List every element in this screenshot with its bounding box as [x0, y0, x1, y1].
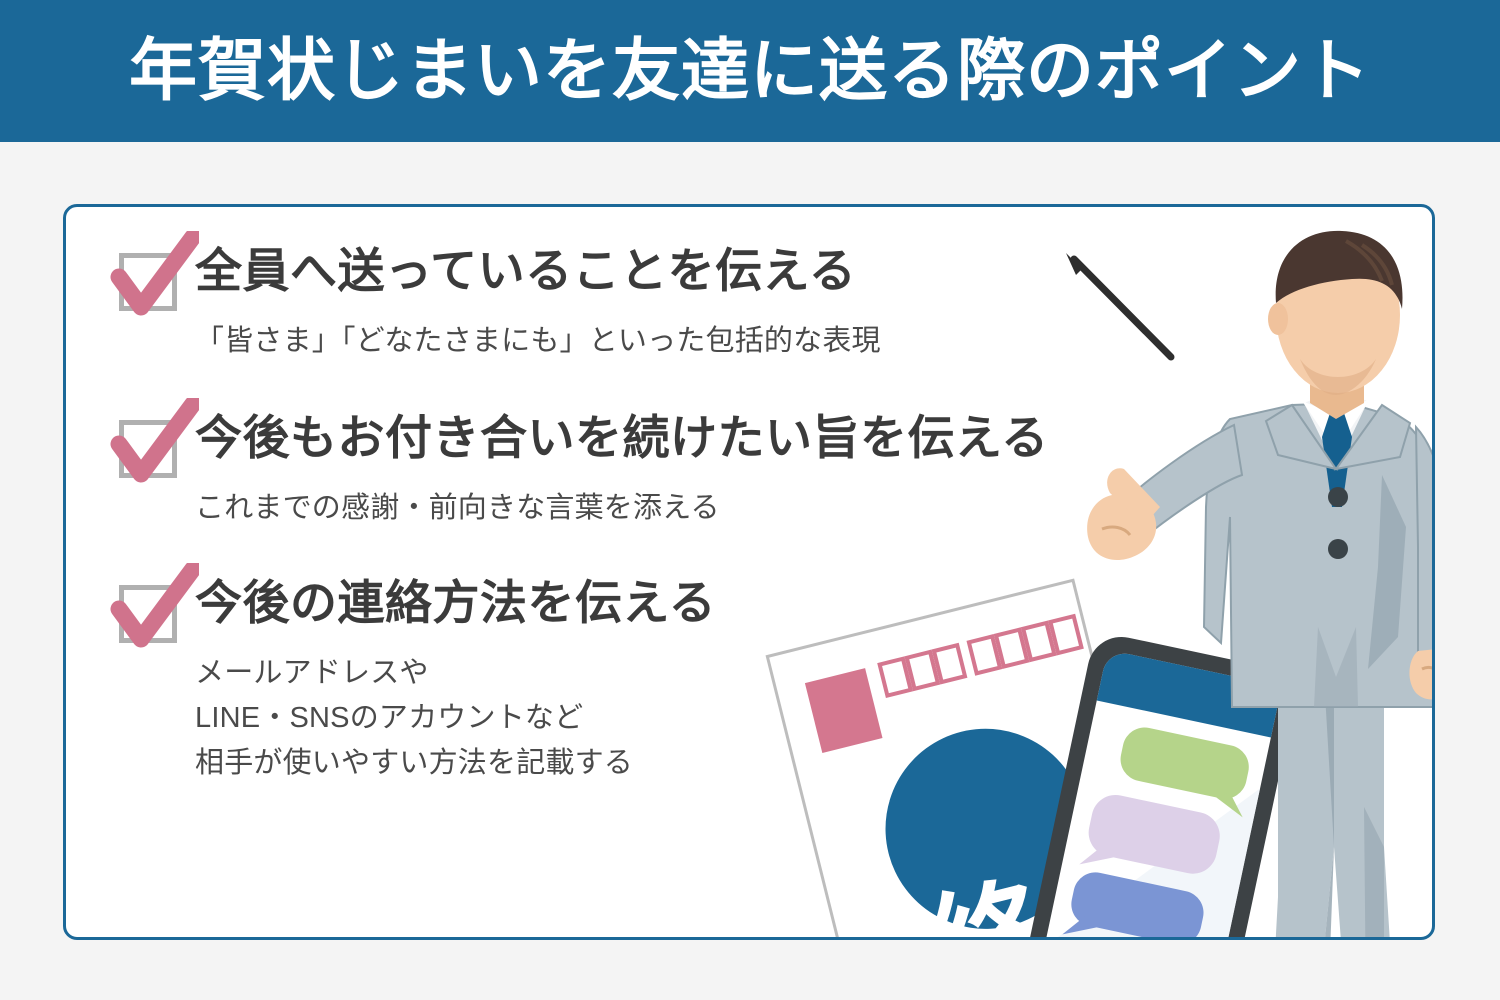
checklist-item-sublines: これまでの感謝・前向きな言葉を添える [111, 486, 1231, 531]
checklist-item: 今後もお付き合いを続けたい旨を伝える これまでの感謝・前向きな言葉を添える [111, 404, 1231, 531]
checkbox-box-icon [119, 253, 177, 311]
presenter-hand-right [1409, 649, 1435, 699]
presenter-button-top [1328, 487, 1348, 507]
presenter-arm-right [1416, 427, 1435, 655]
checklist-item-subline: 「皆さま」「どなたさまにも」といった包括的な表現 [195, 319, 1231, 364]
content-card: 終 [63, 204, 1435, 940]
checklist-item-sublines: 「皆さま」「どなたさまにも」といった包括的な表現 [111, 319, 1231, 364]
presenter-trousers [1272, 677, 1394, 940]
chat-bubble-blue [1062, 868, 1207, 940]
checkbox-1[interactable] [111, 241, 187, 317]
postcard-seal-label: 終 [917, 864, 1063, 940]
checklist-item-sublines: メールアドレスや LINE・SNSのアカウントなど 相手が使いやすい方法を記載す… [111, 651, 1231, 786]
page-title: 年賀状じまいを友達に送る際のポイント [129, 37, 1371, 105]
checklist-item-title: 今後の連絡方法を伝える [195, 569, 716, 630]
checklist-item-subline: これまでの感謝・前向きな言葉を添える [195, 486, 1231, 531]
checkbox-2[interactable] [111, 408, 187, 484]
checklist-item-subline: メールアドレスや [195, 651, 1231, 696]
presenter-neck [1310, 357, 1364, 419]
presenter-jacket [1204, 403, 1435, 707]
checklist-item-subline: 相手が使いやすい方法を記載する [195, 741, 1231, 786]
checklist-item: 全員へ送っていることを伝える 「皆さま」「どなたさまにも」といった包括的な表現 [111, 237, 1231, 364]
checklist-item-title: 今後もお付き合いを続けたい旨を伝える [195, 404, 1049, 465]
checkbox-box-icon [119, 585, 177, 643]
presenter-head [1276, 237, 1400, 393]
checkbox-box-icon [119, 420, 177, 478]
presenter-tie [1322, 413, 1352, 507]
checklist-item-subline: LINE・SNSのアカウントなど [195, 696, 1231, 741]
presenter-hair [1276, 231, 1403, 309]
presenter-button-bottom [1328, 539, 1348, 559]
checkbox-3[interactable] [111, 573, 187, 649]
presenter-shirt [1304, 395, 1368, 469]
checklist-item-title: 全員へ送っていることを伝える [195, 237, 856, 298]
checklist: 全員へ送っていることを伝える 「皆さま」「どなたさまにも」といった包括的な表現 … [111, 237, 1231, 808]
header-bar: 年賀状じまいを友達に送る際のポイント [0, 0, 1500, 142]
checklist-item: 今後の連絡方法を伝える メールアドレスや LINE・SNSのアカウントなど 相手… [111, 569, 1231, 786]
